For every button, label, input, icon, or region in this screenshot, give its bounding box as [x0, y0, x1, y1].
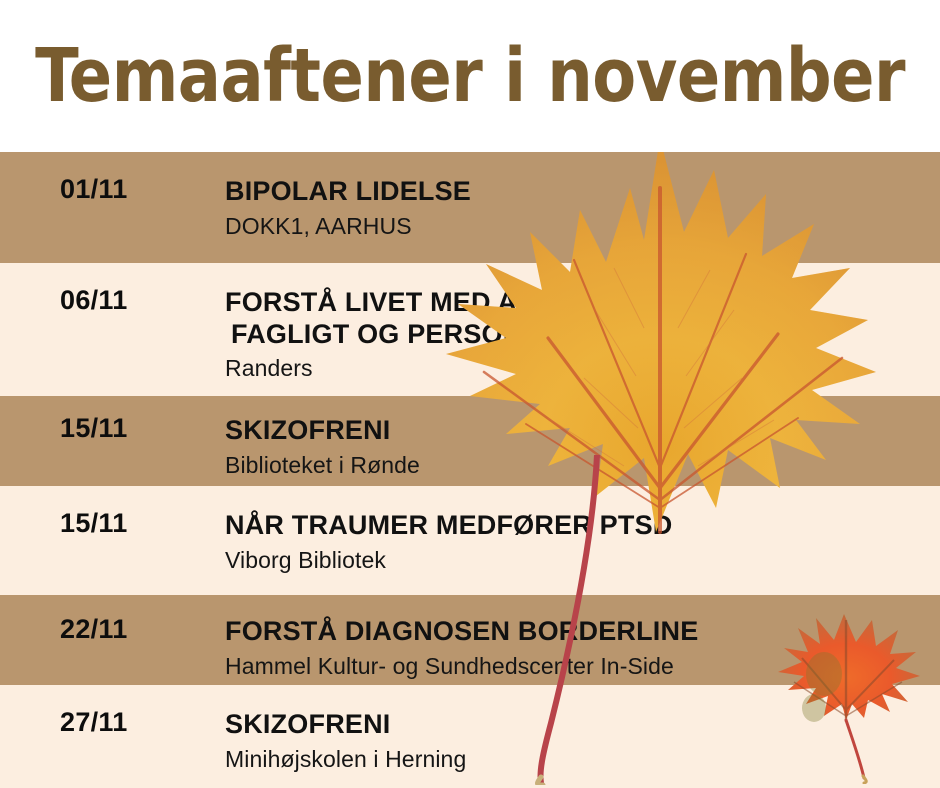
event-text: SKIZOFRENI Minihøjskolen i Herning: [225, 709, 940, 773]
event-text: FORSTÅ LIVET MED AUTISME UD FRA ET FAGLI…: [225, 287, 940, 383]
event-text: FORSTÅ DIAGNOSEN BORDERLINE Hammel Kultu…: [225, 616, 940, 680]
event-row-3[interactable]: 15/11 SKIZOFRENI Biblioteket i Rønde: [0, 396, 940, 486]
event-date: 01/11: [60, 176, 225, 203]
event-title: SKIZOFRENI: [225, 415, 940, 447]
event-venue: DOKK1, AARHUS: [225, 213, 940, 241]
event-title: FORSTÅ LIVET MED AUTISME UD FRA ET: [225, 287, 940, 319]
event-row-6[interactable]: 27/11 SKIZOFRENI Minihøjskolen i Herning: [0, 685, 940, 788]
event-row-4[interactable]: 15/11 NÅR TRAUMER MEDFØRER PTSD Viborg B…: [0, 486, 940, 595]
event-venue: Minihøjskolen i Herning: [225, 746, 940, 774]
event-venue: Hammel Kultur- og Sundhedscenter In-Side: [225, 653, 940, 681]
page-title: Temaaftener i november: [35, 39, 905, 113]
event-title: BIPOLAR LIDELSE: [225, 176, 940, 208]
event-text: NÅR TRAUMER MEDFØRER PTSD Viborg Bibliot…: [225, 510, 940, 574]
event-date: 06/11: [60, 287, 225, 314]
title-bar: Temaaftener i november: [0, 0, 940, 152]
event-venue: Biblioteket i Rønde: [225, 452, 940, 480]
event-row-5[interactable]: 22/11 FORSTÅ DIAGNOSEN BORDERLINE Hammel…: [0, 595, 940, 685]
event-title: FORSTÅ DIAGNOSEN BORDERLINE: [225, 616, 940, 648]
event-venue: Randers: [225, 355, 940, 383]
event-venue: Viborg Bibliotek: [225, 547, 940, 575]
event-date: 15/11: [60, 415, 225, 442]
event-title: SKIZOFRENI: [225, 709, 940, 741]
poster-canvas: Temaaftener i november 01/11 BIPOLAR LID…: [0, 0, 940, 788]
event-row-1[interactable]: 01/11 BIPOLAR LIDELSE DOKK1, AARHUS: [0, 152, 940, 263]
event-title-line2: FAGLIGT OG PERSONLIGT PERSPEKTIV: [225, 319, 940, 351]
event-row-2[interactable]: 06/11 FORSTÅ LIVET MED AUTISME UD FRA ET…: [0, 263, 940, 396]
event-text: BIPOLAR LIDELSE DOKK1, AARHUS: [225, 176, 940, 240]
event-date: 27/11: [60, 709, 225, 736]
event-text: SKIZOFRENI Biblioteket i Rønde: [225, 415, 940, 479]
event-date: 22/11: [60, 616, 225, 643]
event-list: 01/11 BIPOLAR LIDELSE DOKK1, AARHUS 06/1…: [0, 152, 940, 788]
event-date: 15/11: [60, 510, 225, 537]
event-title: NÅR TRAUMER MEDFØRER PTSD: [225, 510, 940, 542]
